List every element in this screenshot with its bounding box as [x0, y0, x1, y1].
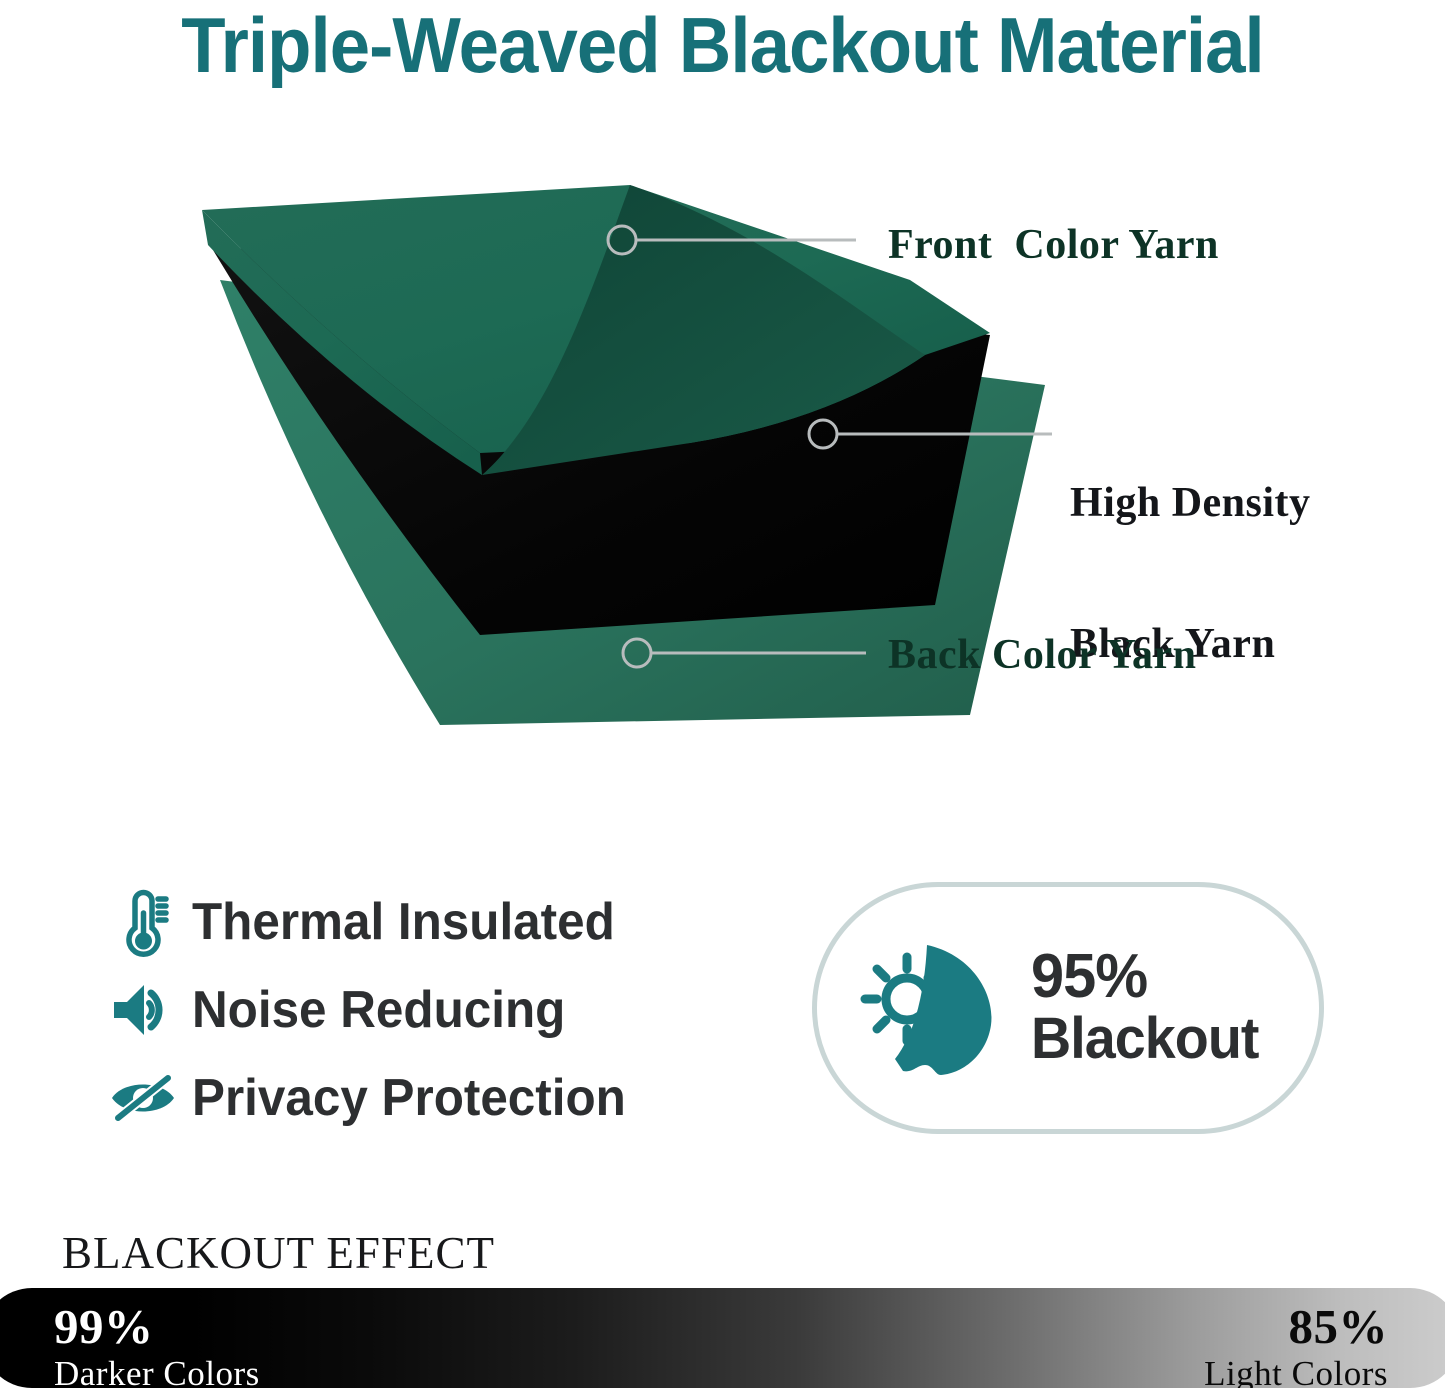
speaker-volume-icon [100, 981, 186, 1039]
darker-colors-percent: 99% [54, 1302, 260, 1351]
blackout-percentage-badge: 95% Blackout [812, 882, 1324, 1134]
thermometer-icon [100, 887, 186, 957]
gradient-bar-right-stat: 85% Light Colors [1204, 1302, 1388, 1388]
callout-label-front-color-yarn: Front Color Yarn [888, 222, 1219, 269]
feature-item-noise-reducing: Noise Reducing [100, 966, 740, 1054]
feature-item-privacy-protection: Privacy Protection [100, 1054, 740, 1142]
light-colors-label: Light Colors [1204, 1354, 1388, 1388]
feature-label: Privacy Protection [192, 1070, 626, 1126]
feature-list: Thermal Insulated Noise Reducing [100, 878, 740, 1142]
feature-label: Thermal Insulated [192, 894, 615, 950]
badge-word: Blackout [1031, 1008, 1307, 1070]
darker-colors-label: Darker Colors [54, 1354, 260, 1388]
callout-label-line-1: High Density [1070, 480, 1311, 527]
badge-percent: 95% [1031, 946, 1307, 1008]
page-title: Triple-Weaved Blackout Material [51, 2, 1395, 88]
callout-label-back-color-yarn: Back Color Yarn [888, 632, 1197, 679]
blackout-effect-heading: BLACKOUT EFFECT [62, 1228, 495, 1278]
badge-text-block: 95% Blackout [1025, 946, 1319, 1070]
light-colors-percent: 85% [1204, 1302, 1388, 1351]
sun-blocked-by-shade-icon [835, 933, 1025, 1083]
eye-off-icon [100, 1072, 186, 1124]
gradient-bar-left-stat: 99% Darker Colors [54, 1302, 260, 1388]
blackout-effect-gradient-bar: 99% Darker Colors 85% Light Colors [0, 1288, 1445, 1388]
infographic-page: Triple-Weaved Blackout Material [0, 0, 1445, 1396]
callout-label-high-density-black-yarn: High Density Black Yarn [1070, 386, 1311, 762]
feature-label: Noise Reducing [192, 982, 565, 1038]
feature-item-thermal-insulated: Thermal Insulated [100, 878, 740, 966]
